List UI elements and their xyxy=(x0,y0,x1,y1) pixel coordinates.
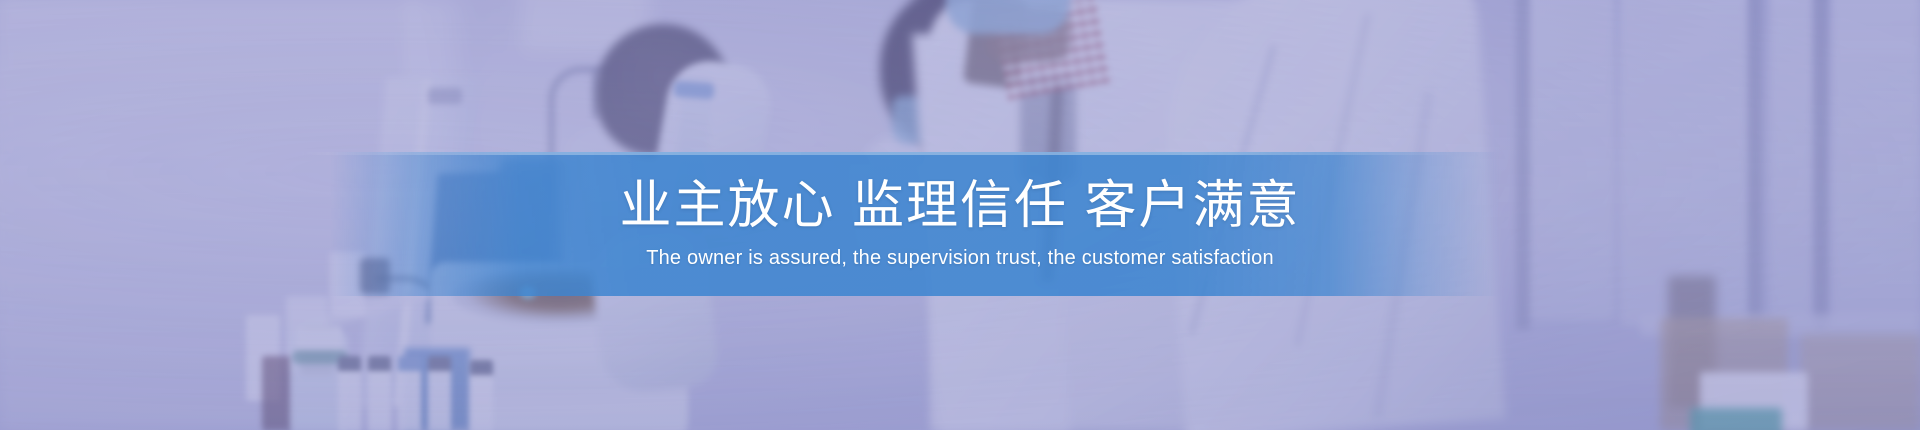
slogan-block: 业主放心 监理信任 客户满意 The owner is assured, the… xyxy=(0,152,1920,296)
slogan-subheadline: The owner is assured, the supervision tr… xyxy=(646,248,1274,268)
slogan-headline: 业主放心 监理信任 客户满意 xyxy=(620,180,1301,232)
hero-banner: 业主放心 监理信任 客户满意 The owner is assured, the… xyxy=(0,0,1920,430)
